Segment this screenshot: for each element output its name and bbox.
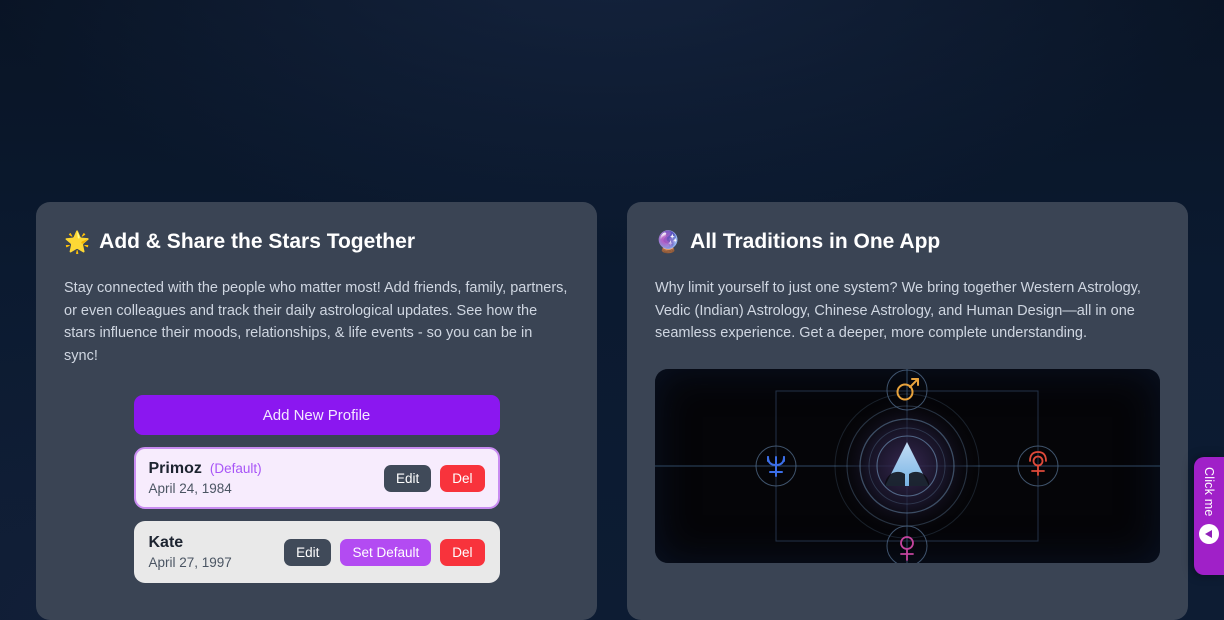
page-title: Features That Unlock the Stars bbox=[0, 4, 1224, 77]
card-title-text: Add & Share the Stars Together bbox=[99, 228, 415, 256]
play-arrow-icon[interactable] bbox=[1199, 524, 1219, 544]
profile-name: Kate bbox=[149, 534, 184, 552]
card-body-add-share: Stay connected with the people who matte… bbox=[64, 277, 569, 367]
profile-name: Primoz bbox=[149, 460, 202, 478]
feature-card-all-traditions: 🔮 All Traditions in One App Why limit yo… bbox=[627, 202, 1188, 620]
card-title-text: All Traditions in One App bbox=[690, 228, 940, 256]
card-title-add-share: 🌟 Add & Share the Stars Together bbox=[64, 228, 569, 256]
click-me-tab[interactable]: Click me bbox=[1194, 457, 1224, 575]
profile-birthdate: April 27, 1997 bbox=[149, 555, 232, 570]
profile-name-line: Kate bbox=[149, 534, 232, 552]
hero-subtitle: Explore powerful tools and personalized … bbox=[212, 99, 1012, 143]
crystal-ball-emoji: 🔮 bbox=[655, 232, 681, 253]
set-default-button[interactable]: Set Default bbox=[340, 539, 431, 566]
profiles-widget: Add New Profile Primoz (Default) April 2… bbox=[134, 395, 500, 583]
profile-info: Primoz (Default) April 24, 1984 bbox=[149, 460, 262, 496]
add-new-profile-button[interactable]: Add New Profile bbox=[134, 395, 500, 435]
card-title-all-traditions: 🔮 All Traditions in One App bbox=[655, 228, 1160, 256]
profile-birthdate: April 24, 1984 bbox=[149, 481, 262, 496]
profile-name-line: Primoz (Default) bbox=[149, 460, 262, 478]
delete-button[interactable]: Del bbox=[440, 539, 484, 566]
click-me-label: Click me bbox=[1202, 467, 1216, 517]
hero-section: Features That Unlock the Stars Explore p… bbox=[0, 0, 1224, 143]
edit-button[interactable]: Edit bbox=[284, 539, 331, 566]
default-badge: (Default) bbox=[210, 461, 262, 476]
profile-info: Kate April 27, 1997 bbox=[149, 534, 232, 570]
profile-actions: Edit Del bbox=[384, 465, 485, 492]
astrology-chart-visual bbox=[655, 369, 1160, 563]
card-body-all-traditions: Why limit yourself to just one system? W… bbox=[655, 277, 1160, 345]
delete-button[interactable]: Del bbox=[440, 465, 484, 492]
feature-card-grid: 🌟 Add & Share the Stars Together Stay co… bbox=[36, 202, 1188, 620]
page-root: Features That Unlock the Stars Explore p… bbox=[0, 0, 1224, 620]
profile-row-primoz[interactable]: Primoz (Default) April 24, 1984 Edit Del bbox=[134, 447, 500, 509]
feature-card-add-share: 🌟 Add & Share the Stars Together Stay co… bbox=[36, 202, 597, 620]
edit-button[interactable]: Edit bbox=[384, 465, 431, 492]
profile-row-kate[interactable]: Kate April 27, 1997 Edit Set Default Del bbox=[134, 521, 500, 583]
glowing-star-emoji: 🌟 bbox=[64, 232, 90, 253]
profile-actions: Edit Set Default Del bbox=[284, 539, 484, 566]
